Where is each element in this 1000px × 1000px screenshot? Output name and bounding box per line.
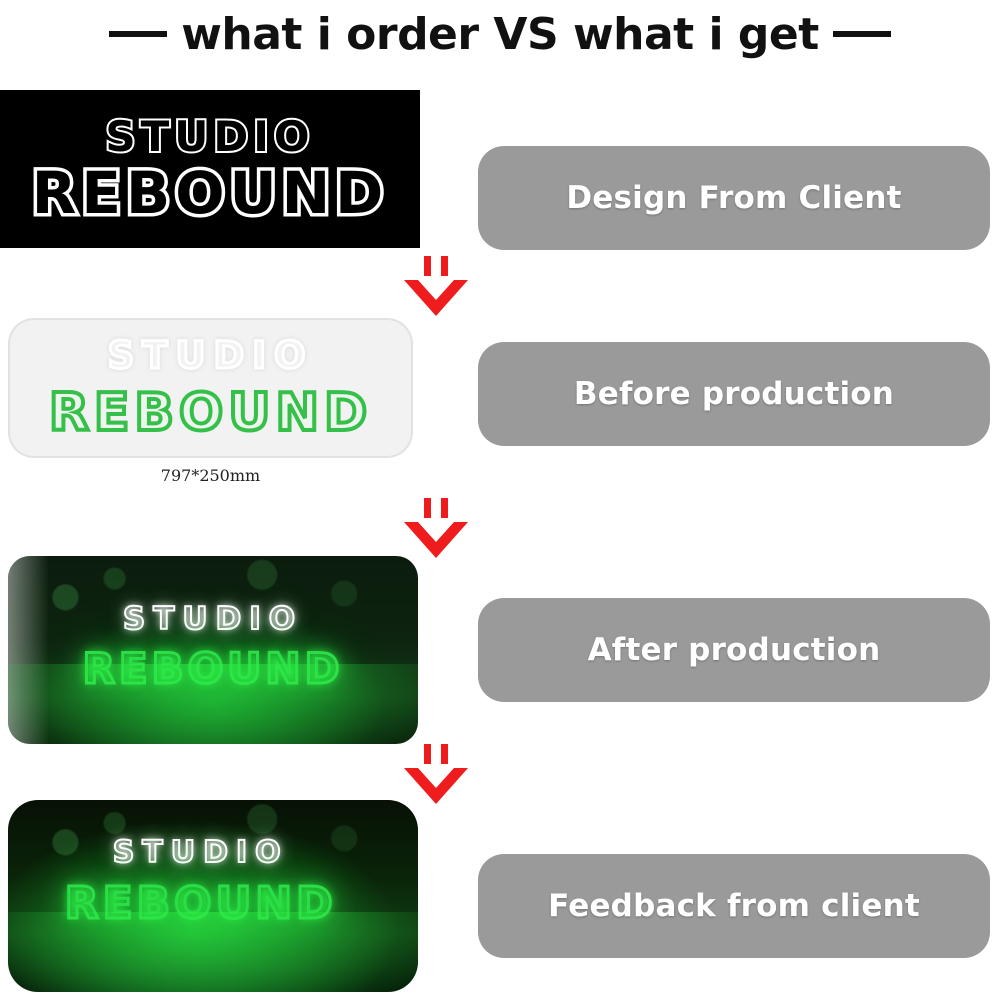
neon-sign-line1: STUDIO (123, 604, 303, 635)
stage-label-design: Design From Client (478, 146, 990, 250)
dimension-caption: 797*250mm (8, 466, 413, 485)
header-rule-right (833, 31, 891, 37)
stage-label-feedback: Feedback from client (478, 854, 990, 958)
down-arrow-icon (396, 256, 476, 318)
photo-wall-edge (8, 556, 48, 744)
stage-label-design-text: Design From Client (566, 180, 901, 216)
page-header: what i order VS what i get (0, 0, 1000, 68)
artwork-text-line1: STUDIO (105, 116, 314, 158)
feedback-photo: STUDIO REBOUND (8, 800, 418, 992)
neon-sign-line2: REBOUND (65, 882, 337, 926)
down-arrow-icon (396, 498, 476, 560)
mockup-text-line2: REBOUND (49, 383, 372, 443)
stage-label-before-production-text: Before production (574, 376, 894, 412)
artwork-text-line2: REBOUND (32, 164, 389, 222)
design-artwork-card: STUDIO REBOUND (0, 90, 420, 248)
arrow-design-to-before (396, 256, 476, 318)
stage-label-before-production: Before production (478, 342, 990, 446)
header-rule-left (109, 31, 167, 37)
neon-sign-line2: REBOUND (83, 648, 344, 690)
stage-label-feedback-text: Feedback from client (548, 888, 920, 924)
arrow-before-to-after (396, 498, 476, 560)
stage-label-after-production: After production (478, 598, 990, 702)
after-production-photo: STUDIO REBOUND (8, 556, 418, 744)
arrow-after-to-feedback (396, 744, 476, 806)
page-title: what i order VS what i get (167, 9, 833, 60)
neon-sign-line1: STUDIO (113, 838, 289, 868)
stage-label-after-production-text: After production (588, 632, 881, 668)
before-production-mockup: STUDIO REBOUND (8, 318, 413, 458)
mockup-text-line1: STUDIO (108, 334, 314, 377)
down-arrow-icon (396, 744, 476, 806)
